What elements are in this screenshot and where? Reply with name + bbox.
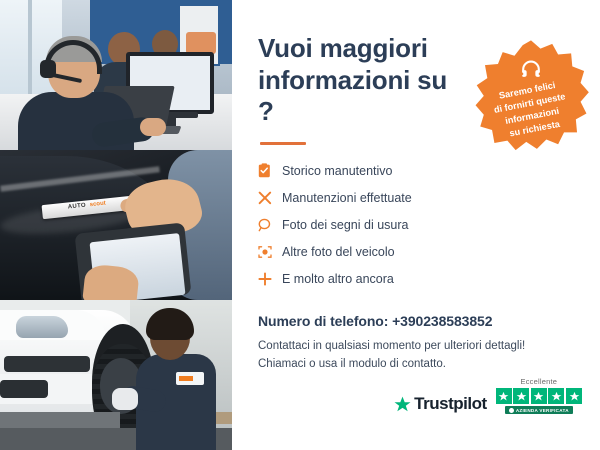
lift-arm <box>0 412 120 428</box>
car-grille-lower <box>0 380 48 398</box>
mechanic-glove <box>112 388 138 410</box>
trustpilot-rating: Eccellente AZIENDA VERIFICATA <box>496 377 582 414</box>
contact-text: Contattaci in qualsiasi momento per ulte… <box>258 338 578 374</box>
list-item: Storico manutentivo <box>258 157 578 184</box>
agent-hand <box>140 118 166 136</box>
verified-label: AZIENDA VERIFICATA <box>516 408 569 413</box>
contact-line-1: Contattaci in qualsiasi momento per ulte… <box>258 338 578 356</box>
list-item-label: Altre foto del veicolo <box>282 245 395 259</box>
callout-badge: Saremo felici di fornirti queste informa… <box>472 38 590 156</box>
feature-list: Storico manutentivo Manutenzioni effettu… <box>258 157 578 292</box>
phone-number[interactable]: Numero di telefono: +390238583852 <box>258 313 578 329</box>
star-rating <box>496 388 582 404</box>
list-item-label: Foto dei segni di usura <box>282 218 408 232</box>
photo-inspection <box>0 150 232 300</box>
check-icon <box>509 408 514 413</box>
title-divider <box>260 142 306 145</box>
trustpilot-widget[interactable]: Trustpilot Eccellente AZIENDA VERIFICATA <box>394 377 582 414</box>
star-icon <box>496 388 512 404</box>
star-icon <box>513 388 529 404</box>
contact-line-2: Chiamaci o usa il modulo di contatto. <box>258 356 578 374</box>
list-item-label: Manutenzioni effettuate <box>282 191 412 205</box>
content-panel: Vuoi maggiori informazioni su ? Storico … <box>232 0 600 450</box>
clipboard-check-icon <box>258 163 282 178</box>
promo-banner: Vuoi maggiori informazioni su ? Storico … <box>0 0 600 450</box>
car-grille-upper <box>4 356 90 372</box>
magnifier-icon <box>258 218 282 232</box>
list-item-label: E molto altro ancora <box>282 272 394 286</box>
list-item: Altre foto del veicolo <box>258 238 578 265</box>
list-item: Manutenzioni effettuate <box>258 184 578 211</box>
photo-call-center <box>0 0 232 150</box>
trustpilot-logo: Trustpilot <box>394 394 486 414</box>
star-icon <box>531 388 547 404</box>
star-icon <box>566 388 582 404</box>
trustpilot-name: Trustpilot <box>414 394 486 414</box>
uniform-logo-patch <box>176 372 204 385</box>
phone-block: Numero di telefono: +390238583852 Contat… <box>258 313 578 374</box>
trustpilot-star-icon <box>394 396 411 413</box>
page-title: Vuoi maggiori informazioni su ? <box>258 33 458 128</box>
car-headlight <box>16 316 68 338</box>
rating-label: Eccellente <box>521 377 558 386</box>
list-item-label: Storico manutentivo <box>282 164 392 178</box>
tools-cross-icon <box>258 191 282 205</box>
verified-badge: AZIENDA VERIFICATA <box>505 406 573 414</box>
photo-scan-icon <box>258 245 282 259</box>
list-item: Foto dei segni di usura <box>258 211 578 238</box>
star-icon <box>548 388 564 404</box>
photo-wheel-inspection <box>0 300 232 450</box>
photo-column <box>0 0 232 450</box>
plus-icon <box>258 272 282 286</box>
list-item: E molto altro ancora <box>258 265 578 292</box>
